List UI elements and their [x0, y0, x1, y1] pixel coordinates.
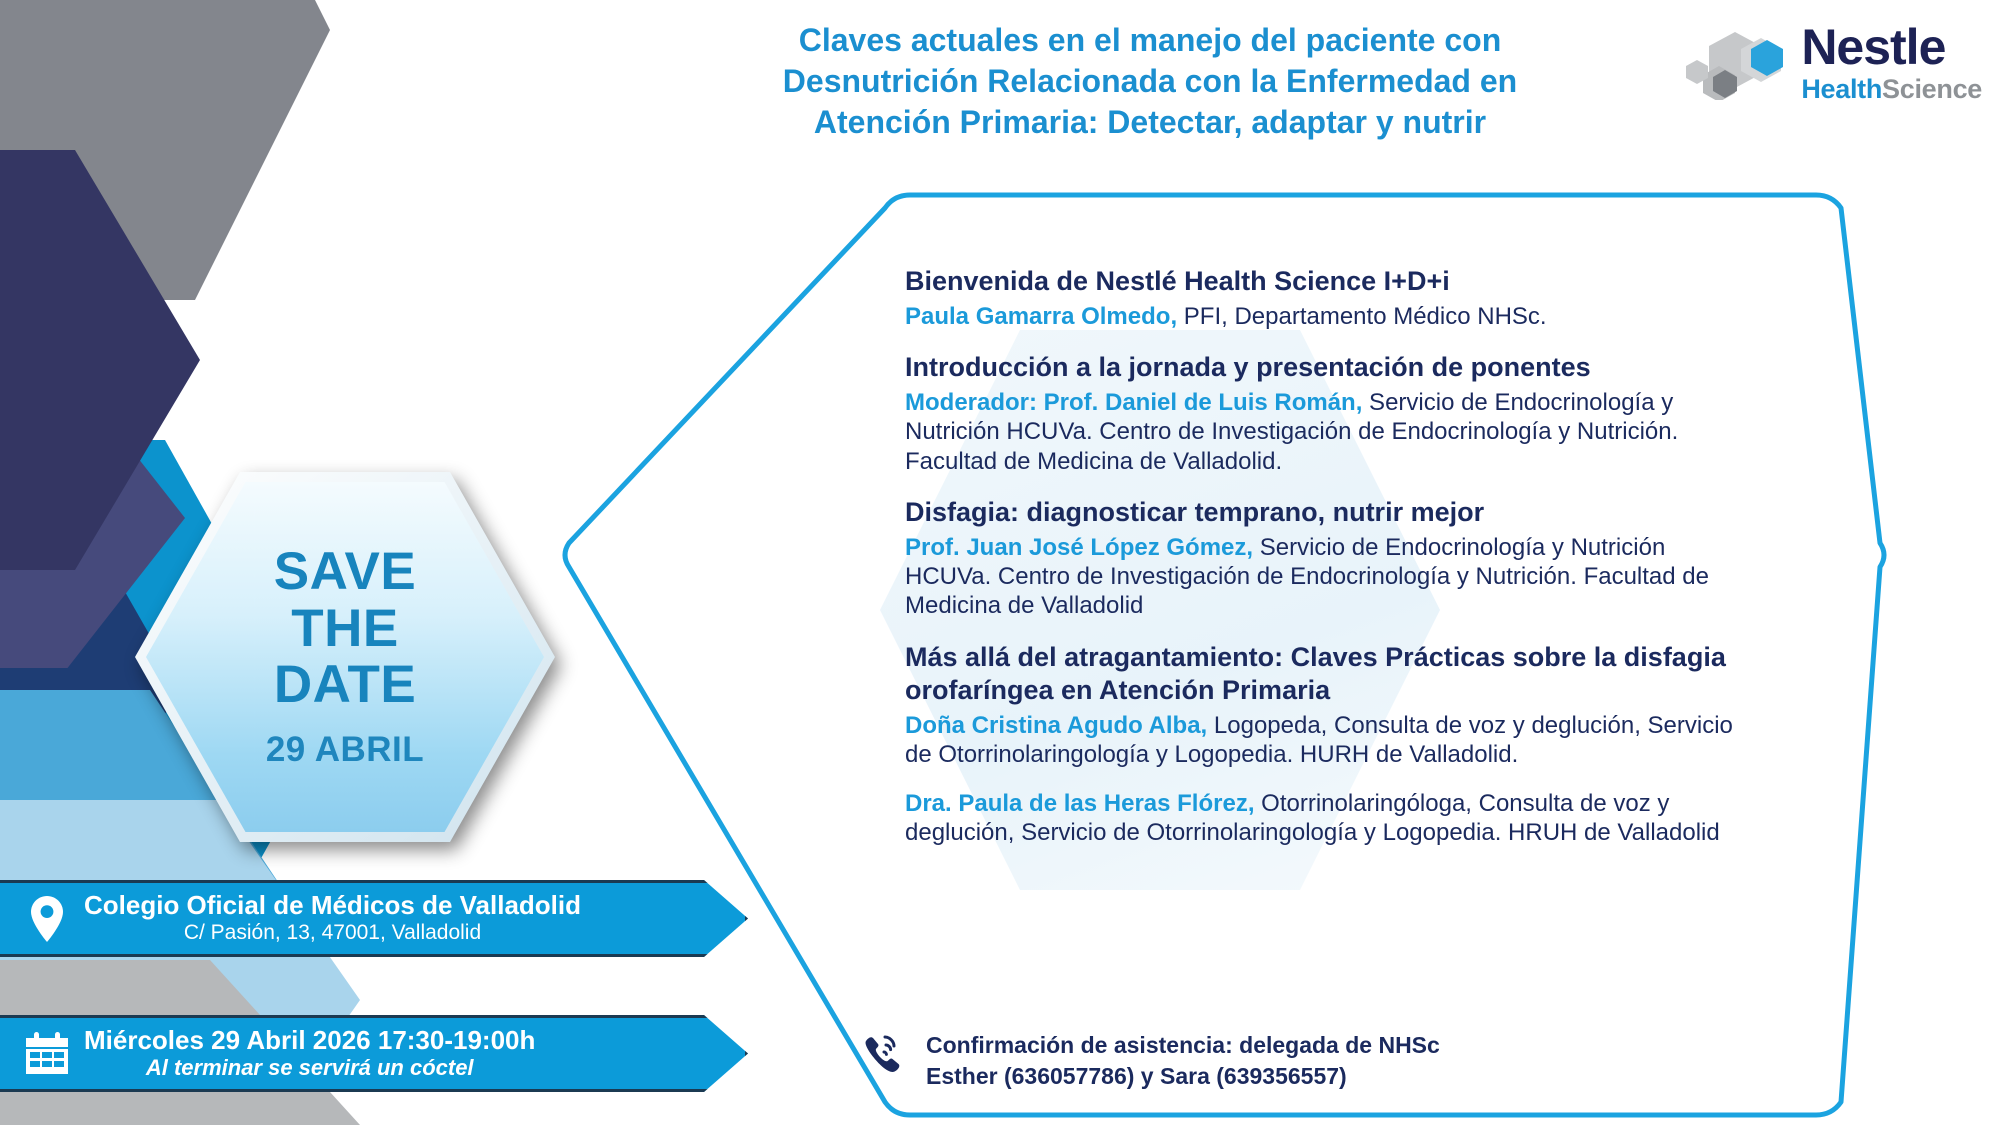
phone-ringing-icon — [860, 1032, 910, 1081]
program-heading: Más allá del atragantamiento: Claves Prá… — [905, 641, 1735, 707]
program-speaker-line: Moderador: Prof. Daniel de Luis Román, S… — [905, 388, 1735, 476]
calendar-icon — [16, 1031, 78, 1077]
logo-health-text: Health — [1801, 74, 1882, 104]
title-line-1: Claves actuales en el manejo del pacient… — [690, 20, 1610, 61]
date-banner: Miércoles 29 Abril 2026 17:30-19:00h Al … — [0, 1015, 748, 1092]
confirmation-line-1: Confirmación de asistencia: delegada de … — [926, 1030, 1440, 1061]
badge-line-save: SAVE — [274, 544, 416, 601]
event-datetime: Miércoles 29 Abril 2026 17:30-19:00h — [84, 1026, 535, 1055]
program-speaker-name: Dra. Paula de las Heras Flórez, — [905, 790, 1255, 817]
program-speaker-line: Paula Gamarra Olmedo, PFI, Departamento … — [905, 302, 1735, 331]
logo-subtitle: HealthScience — [1801, 76, 1982, 103]
logo-science-text: Science — [1882, 74, 1982, 104]
confirmation-block: Confirmación de asistencia: delegada de … — [860, 1030, 1440, 1091]
save-the-date-badge: SAVE THE DATE 29 ABRIL — [135, 472, 555, 842]
venue-banner: Colegio Oficial de Médicos de Valladolid… — [0, 880, 748, 957]
location-pin-icon — [16, 895, 78, 943]
program-list: Bienvenida de Nestlé Health Science I+D+… — [905, 265, 1735, 868]
badge-line-the: THE — [291, 601, 399, 658]
hexagon-cluster-icon — [1685, 26, 1797, 100]
confirmation-line-2: Esther (636057786) y Sara (639356557) — [926, 1061, 1440, 1092]
venue-address: C/ Pasión, 13, 47001, Valladolid — [84, 920, 581, 945]
program-speaker-affiliation: PFI, Departamento Médico NHSc. — [1177, 303, 1546, 330]
badge-event-date: 29 ABRIL — [266, 730, 424, 770]
program-heading: Introducción a la jornada y presentación… — [905, 351, 1735, 384]
program-speaker-name: Doña Cristina Agudo Alba, — [905, 712, 1207, 739]
venue-name: Colegio Oficial de Médicos de Valladolid — [84, 891, 581, 920]
badge-line-date: DATE — [274, 657, 416, 714]
title-line-3: Atención Primaria: Detectar, adaptar y n… — [690, 102, 1610, 143]
program-heading: Bienvenida de Nestlé Health Science I+D+… — [905, 265, 1735, 298]
program-speaker-line: Prof. Juan José López Gómez, Servicio de… — [905, 533, 1735, 621]
title-line-2: Desnutrición Relacionada con la Enfermed… — [690, 61, 1610, 102]
program-speaker-name: Prof. Juan José López Gómez, — [905, 534, 1253, 561]
program-speaker-name: Paula Gamarra Olmedo, — [905, 303, 1177, 330]
program-speaker-line: Dra. Paula de las Heras Flórez, Otorrino… — [905, 789, 1735, 848]
program-heading: Disfagia: diagnosticar temprano, nutrir … — [905, 496, 1735, 529]
program-speaker-name: Moderador: Prof. Daniel de Luis Román, — [905, 389, 1362, 416]
program-speaker-line: Doña Cristina Agudo Alba, Logopeda, Cons… — [905, 711, 1735, 770]
logo-brand-text: Nestle — [1801, 22, 1982, 72]
event-title: Claves actuales en el manejo del pacient… — [690, 20, 1610, 143]
event-note: Al terminar se servirá un cóctel — [84, 1055, 535, 1081]
nestle-health-science-logo: Nestle HealthScience — [1685, 22, 1982, 103]
